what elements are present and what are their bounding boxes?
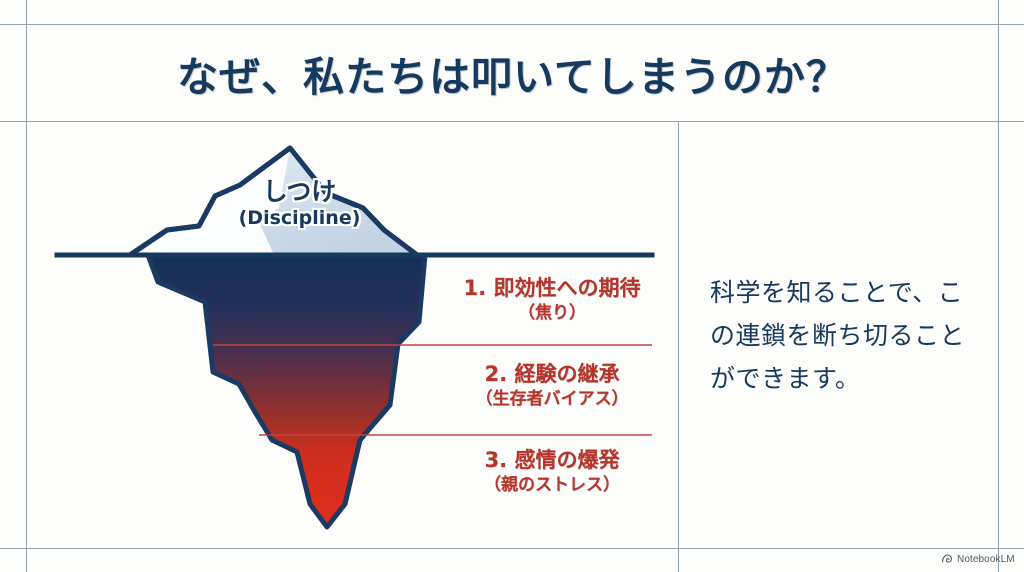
iceberg-tip bbox=[130, 148, 417, 255]
layer-1-title: 1. 即効性への期待 bbox=[427, 276, 677, 301]
watermark-label: NotebookLM bbox=[957, 554, 1015, 565]
page-title: なぜ、私たちは叩いてしまうのか？ bbox=[177, 43, 848, 103]
slide-canvas: なぜ、私たちは叩いてしまうのか？ bbox=[0, 0, 1024, 572]
layer-3-sub: （親のストレス） bbox=[427, 473, 677, 498]
iceberg-layer-2: 2. 経験の継承 （生存者バイアス） bbox=[427, 362, 677, 412]
layer-1-sub: （焦り） bbox=[427, 301, 677, 326]
title-block: なぜ、私たちは叩いてしまうのか？ bbox=[27, 25, 998, 120]
iceberg-layer-1: 1. 即効性への期待 （焦り） bbox=[427, 276, 677, 326]
layer-3-title: 3. 感情の爆発 bbox=[427, 448, 677, 473]
notebooklm-watermark: NotebookLM bbox=[941, 553, 1015, 565]
layer-2-sub: （生存者バイアス） bbox=[427, 387, 677, 412]
iceberg-diagram: しつけ (Discipline) 1. 即効性への期待 （焦り） 2. 経験の継… bbox=[27, 122, 678, 548]
layer-2-title: 2. 経験の継承 bbox=[427, 362, 677, 387]
notebooklm-icon bbox=[941, 553, 953, 565]
right-panel-text: 科学を知ることで、この連鎖を断ち切ることができます。 bbox=[679, 271, 998, 400]
right-panel: 科学を知ることで、この連鎖を断ち切ることができます。 bbox=[679, 122, 998, 548]
guide-line-right bbox=[998, 0, 999, 572]
guide-line-bottom bbox=[0, 548, 1024, 549]
iceberg-body bbox=[148, 255, 425, 527]
iceberg-layer-3: 3. 感情の爆発 （親のストレス） bbox=[427, 448, 677, 498]
